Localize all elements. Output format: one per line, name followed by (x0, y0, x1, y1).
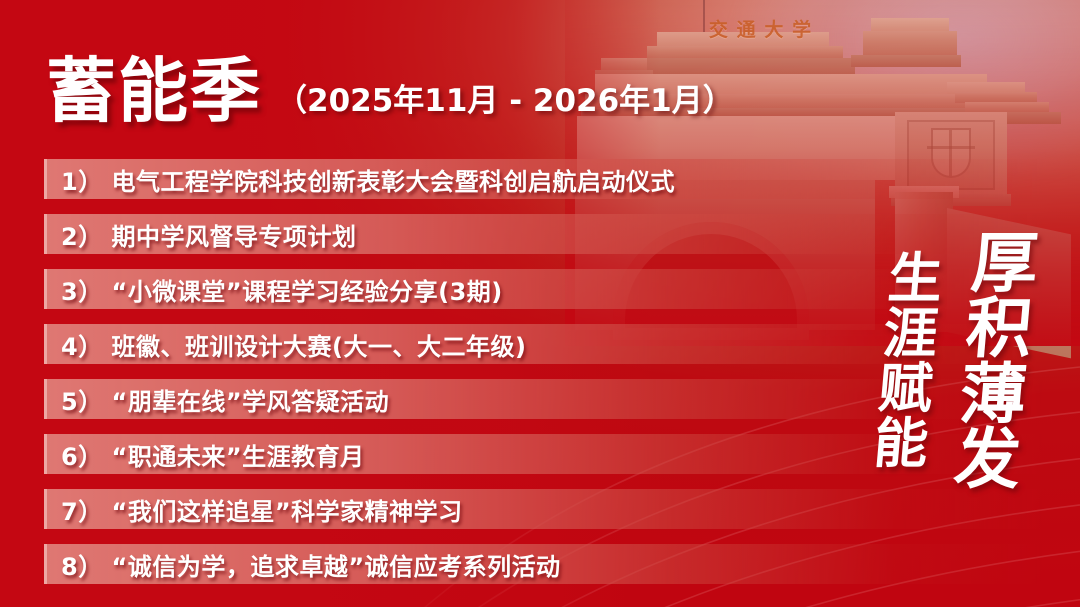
calligraphy-char: 生 (886, 252, 945, 307)
calligraphy-left-column: 生 涯 赋 能 (864, 232, 947, 562)
list-item-text: 6） “职通未来”生涯教育月 (47, 437, 365, 472)
list-item: 1） 电气工程学院科技创新表彰大会暨科创启航启动仪式 (44, 159, 1044, 199)
calligraphy-char: 涯 (881, 307, 940, 362)
calligraphy-char: 发 (952, 428, 1024, 493)
list-item-text: 2） 期中学风督导专项计划 (47, 217, 357, 252)
calligraphy-char: 赋 (876, 362, 935, 417)
calligraphy-right-column: 厚 积 薄 发 (946, 232, 1041, 562)
calligraphy-block: 厚 积 薄 发 生 涯 赋 能 (780, 232, 1080, 562)
list-item-text: 5） “朋辈在线”学风答疑活动 (47, 382, 389, 417)
poster-header: 蓄能季 （2025年11月 - 2026年1月） (46, 56, 734, 126)
poster-canvas: 交 通 大 学 蓄能季 （2025年11月 - 202 (0, 0, 1080, 607)
page-title: 蓄能季 (46, 56, 262, 126)
list-item-text: 7） “我们这样追星”科学家精神学习 (47, 492, 463, 527)
calligraphy-char: 能 (871, 417, 930, 472)
calligraphy-char: 薄 (957, 363, 1029, 428)
calligraphy-char: 积 (963, 297, 1035, 362)
list-item-text: 4） 班徽、班训设计大赛(大一、大二年级) (47, 327, 527, 362)
list-item-text: 1） 电气工程学院科技创新表彰大会暨科创启航启动仪式 (47, 162, 675, 197)
calligraphy-char: 厚 (969, 232, 1041, 297)
list-item-text: 8） “诚信为学，追求卓越”诚信应考系列活动 (47, 547, 561, 582)
list-item-text: 3） “小微课堂”课程学习经验分享(3期) (47, 272, 503, 307)
date-range-label: （2025年11月 - 2026年1月） (276, 86, 734, 126)
